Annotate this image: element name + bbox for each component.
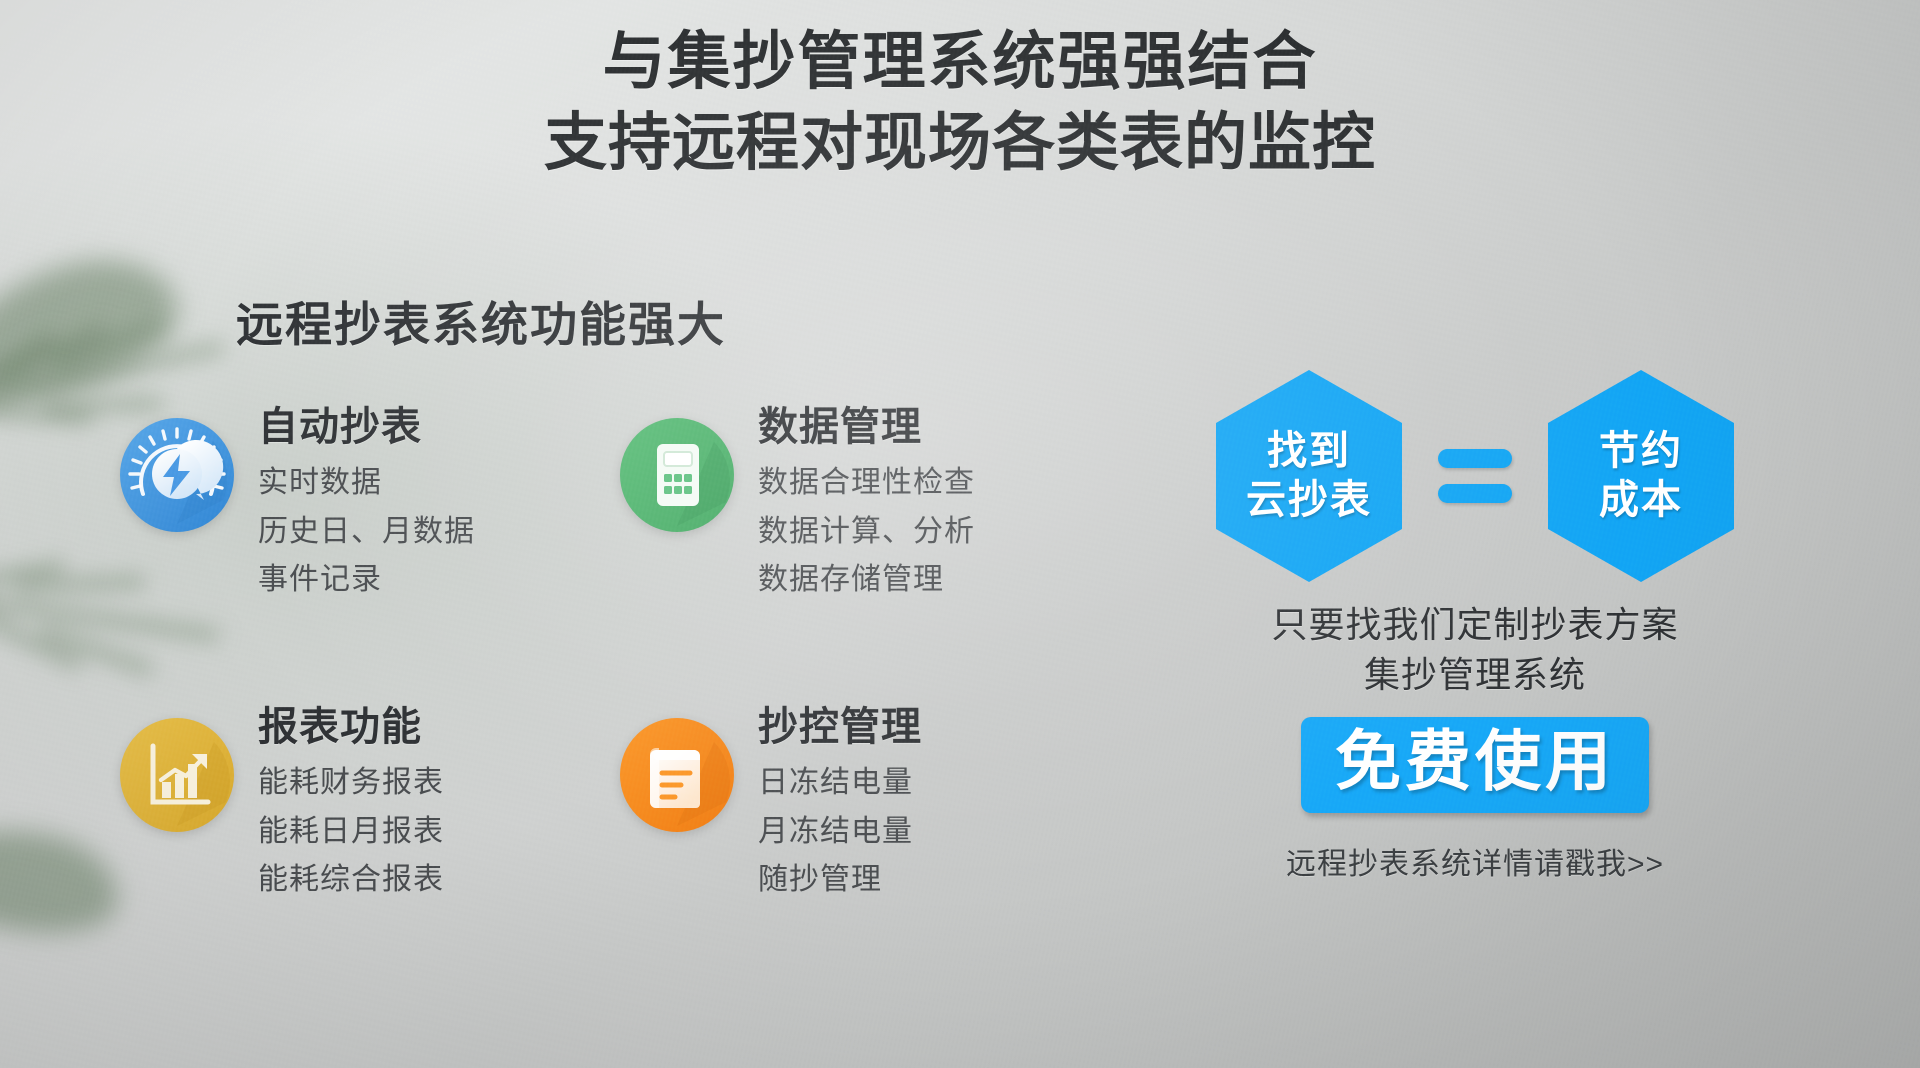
feature-grid: 自动抄表 实时数据 历史日、月数据 事件记录: [118, 400, 1128, 1000]
foliage-blur-2: [0, 810, 128, 949]
hexagon-right-line-1: 节约: [1599, 427, 1683, 476]
feature-title: 自动抄表: [258, 404, 475, 451]
feature-title: 报表功能: [258, 704, 444, 751]
headline-line-1: 与集抄管理系统强强结合: [0, 22, 1920, 103]
promo-line-2: 集抄管理系统: [1195, 650, 1755, 700]
feature-item: 能耗财务报表: [258, 759, 444, 808]
free-trial-button[interactable]: 免费使用: [1301, 717, 1649, 813]
calculator-icon: [618, 416, 736, 534]
feature-item: 事件记录: [258, 556, 475, 605]
poster-canvas: 与集抄管理系统强强结合 支持远程对现场各类表的监控 远程抄表系统功能强大: [0, 0, 1920, 1068]
feature-card-data-management[interactable]: 数据管理 数据合理性检查 数据计算、分析 数据存储管理: [618, 400, 1098, 700]
feature-item: 数据合理性检查: [758, 459, 975, 508]
feature-title: 数据管理: [758, 404, 975, 451]
feature-card-report-function[interactable]: 报表功能 能耗财务报表 能耗日月报表 能耗综合报表: [118, 700, 598, 1000]
promo-panel: 找到 云抄表 节约 成本 只要找我们定制抄表方案 集抄管理系统 免费使用 远程抄…: [1195, 368, 1755, 883]
feature-card-reading-control-management[interactable]: 抄控管理 日冻结电量 月冻结电量 随抄管理: [618, 700, 1098, 1000]
equals-bar-top: [1438, 449, 1512, 468]
hexagon-save-cost[interactable]: 节约 成本: [1548, 370, 1734, 582]
feature-item: 数据存储管理: [758, 556, 975, 605]
feature-item: 月冻结电量: [758, 808, 922, 857]
feature-item: 历史日、月数据: [258, 508, 475, 557]
equals-bar-bottom: [1438, 484, 1512, 503]
document-book-icon: [618, 716, 736, 834]
headline-line-2: 支持远程对现场各类表的监控: [0, 103, 1920, 184]
feature-card-auto-meter-reading[interactable]: 自动抄表 实时数据 历史日、月数据 事件记录: [118, 400, 598, 700]
detail-link[interactable]: 远程抄表系统详情请戳我>>: [1195, 839, 1755, 883]
promo-copy: 只要找我们定制抄表方案 集抄管理系统: [1195, 600, 1755, 699]
feature-item: 能耗综合报表: [258, 856, 444, 905]
feature-item: 日冻结电量: [758, 759, 922, 808]
hexagon-left-line-1: 找到: [1267, 427, 1351, 476]
feature-text: 抄控管理 日冻结电量 月冻结电量 随抄管理: [758, 700, 922, 905]
promo-line-1: 只要找我们定制抄表方案: [1195, 600, 1755, 650]
feature-text: 自动抄表 实时数据 历史日、月数据 事件记录: [258, 400, 475, 605]
feature-item: 随抄管理: [758, 856, 922, 905]
feature-text: 数据管理 数据合理性检查 数据计算、分析 数据存储管理: [758, 400, 975, 605]
feature-title: 抄控管理: [758, 704, 922, 751]
hexagon-find-cloud-meter[interactable]: 找到 云抄表: [1216, 370, 1402, 582]
hexagon-right-line-2: 成本: [1599, 476, 1683, 525]
hexagon-left-line-2: 云抄表: [1246, 476, 1372, 525]
feature-item: 能耗日月报表: [258, 808, 444, 857]
feature-item: 实时数据: [258, 459, 475, 508]
feature-item: 数据计算、分析: [758, 508, 975, 557]
equals-sign-icon: [1438, 449, 1512, 503]
bar-chart-arrow-icon: [118, 716, 236, 834]
page-title: 与集抄管理系统强强结合 支持远程对现场各类表的监控: [0, 22, 1920, 183]
section-title: 远程抄表系统功能强大: [236, 286, 726, 355]
feature-text: 报表功能 能耗财务报表 能耗日月报表 能耗综合报表: [258, 700, 444, 905]
equation-hexagons: 找到 云抄表 节约 成本: [1195, 368, 1755, 584]
foliage-blur-1: [0, 239, 192, 421]
speedometer-bolt-icon: [118, 416, 236, 534]
